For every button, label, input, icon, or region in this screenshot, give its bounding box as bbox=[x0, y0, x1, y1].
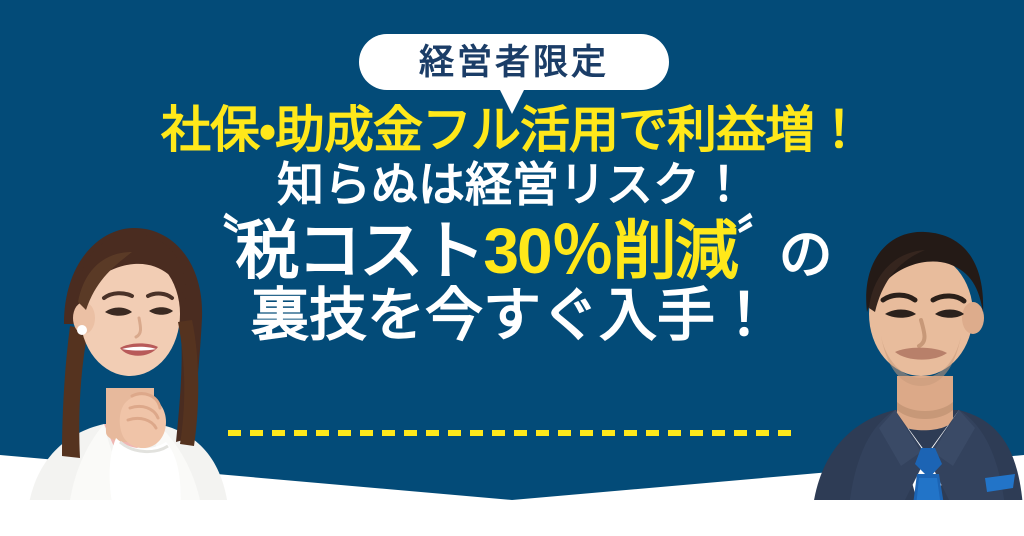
badge-label: 経営者限定 bbox=[419, 45, 609, 80]
badge-container: 経営者限定 bbox=[359, 34, 669, 90]
badge-tail-icon bbox=[499, 88, 525, 114]
bottom-white-strip bbox=[0, 500, 1024, 536]
promo-banner: 経営者限定 社保・助成金フル活用で利益増！ 知らぬは経営リスク！ 〝税コスト30… bbox=[0, 0, 1024, 536]
dashed-underline bbox=[228, 430, 800, 436]
photo-businessman-right bbox=[809, 216, 1024, 536]
executives-only-badge: 経営者限定 bbox=[359, 34, 669, 90]
photo-woman-left bbox=[8, 206, 238, 536]
